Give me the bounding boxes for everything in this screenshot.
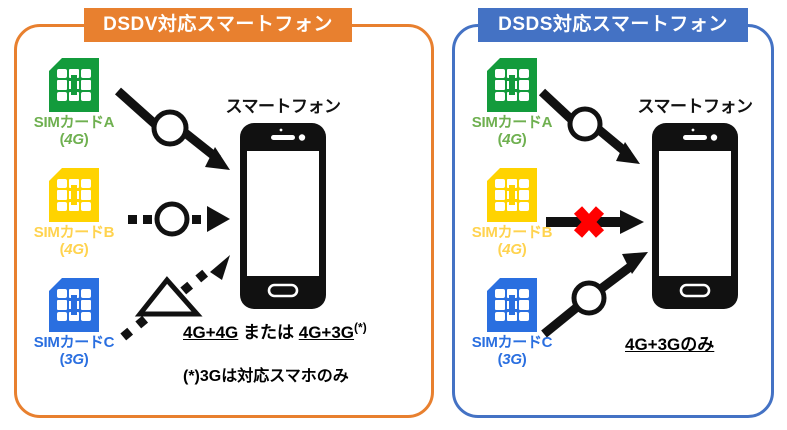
sim-card-icon [487, 58, 537, 112]
generation-value: 4G [502, 131, 521, 148]
sim-card-icon [487, 278, 537, 332]
result-option-1: 4G+3Gのみ [625, 335, 714, 354]
footnote-dsdv: (*)3Gは対応スマホのみ [183, 362, 349, 386]
banner-dsdv: DSDV対応スマートフォン [84, 8, 352, 42]
paren-close: ) [84, 131, 89, 148]
smartphone-icon [650, 121, 740, 311]
sim-card-b-generation: (4G) [14, 241, 134, 258]
sim-card-icon [49, 58, 99, 112]
generation-value: 3G [64, 351, 83, 368]
sim-card-b-label: SIMカードB [14, 224, 134, 241]
sim-card-icon [487, 168, 537, 222]
generation-value: 3G [502, 351, 521, 368]
generation-value: 4G [64, 241, 83, 258]
generation-value: 4G [64, 131, 83, 148]
sim-card-b-dsdv: SIMカードB (4G) [14, 168, 134, 258]
result-option-1: 4G+4G [183, 323, 238, 342]
result-text-dsds: 4G+3Gのみ [625, 330, 714, 355]
sim-card-c-generation: (3G) [14, 351, 134, 368]
phone-dsdv: スマートフォン [208, 92, 358, 316]
result-conjunction: または [238, 323, 298, 342]
paren-close: ) [522, 351, 527, 368]
result-footnote-marker: (*) [354, 320, 367, 334]
paren-close: ) [522, 241, 527, 258]
result-option-2: 4G+3G [299, 323, 354, 342]
sim-card-icon [49, 168, 99, 222]
result-text-dsdv: 4G+4G または 4G+3G(*) [183, 318, 367, 343]
banner-dsds: DSDS対応スマートフォン [478, 8, 748, 42]
paren-close: ) [84, 241, 89, 258]
phone-dsds: スマートフォン [620, 92, 770, 316]
phone-title: スマートフォン [208, 92, 358, 117]
generation-value: 4G [502, 241, 521, 258]
paren-close: ) [84, 351, 89, 368]
diagram-canvas: DSDV対応スマートフォン SIMカードA (4G [0, 0, 787, 430]
sim-card-c-dsdv: SIMカードC (3G) [14, 278, 134, 368]
sim-card-c-generation: (3G) [452, 351, 572, 368]
smartphone-icon [238, 121, 328, 311]
sim-card-c-label: SIMカードC [14, 334, 134, 351]
sim-card-icon [49, 278, 99, 332]
phone-title: スマートフォン [620, 92, 770, 117]
paren-close: ) [522, 131, 527, 148]
